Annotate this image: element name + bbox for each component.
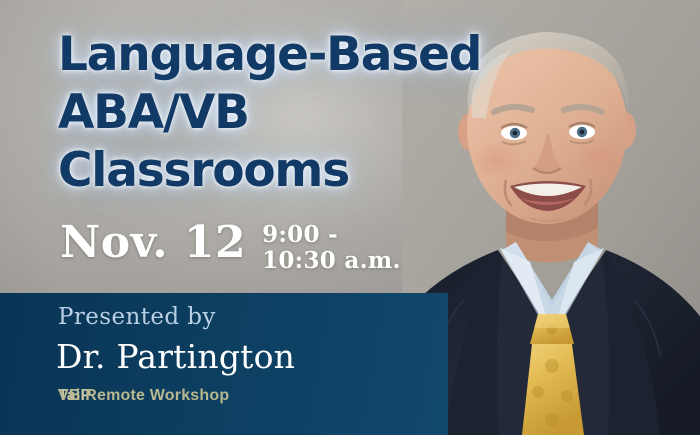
event-datetime: Nov. 12 9:00 - 10:30 a.m.	[60, 218, 401, 274]
headline-line-3: Classrooms	[58, 142, 528, 200]
presented-by-label: Presented by	[58, 303, 216, 331]
event-time-line-1: 9:00 -	[262, 222, 401, 248]
promo-banner: Language-Based ABA/VB Classrooms Nov. 12…	[0, 0, 700, 435]
headline: Language-Based ABA/VB Classrooms	[58, 26, 528, 200]
event-date: Nov. 12	[60, 218, 246, 268]
headline-line-2: ABA/VB	[58, 84, 528, 142]
event-time: 9:00 - 10:30 a.m.	[262, 222, 401, 274]
headline-line-1: Language-Based	[58, 26, 528, 84]
workshop-subline-front-text: VB Remote Workshop	[58, 386, 229, 406]
presenter-name: Dr. Partington	[56, 337, 295, 377]
event-time-line-2: 10:30 a.m.	[262, 248, 401, 274]
